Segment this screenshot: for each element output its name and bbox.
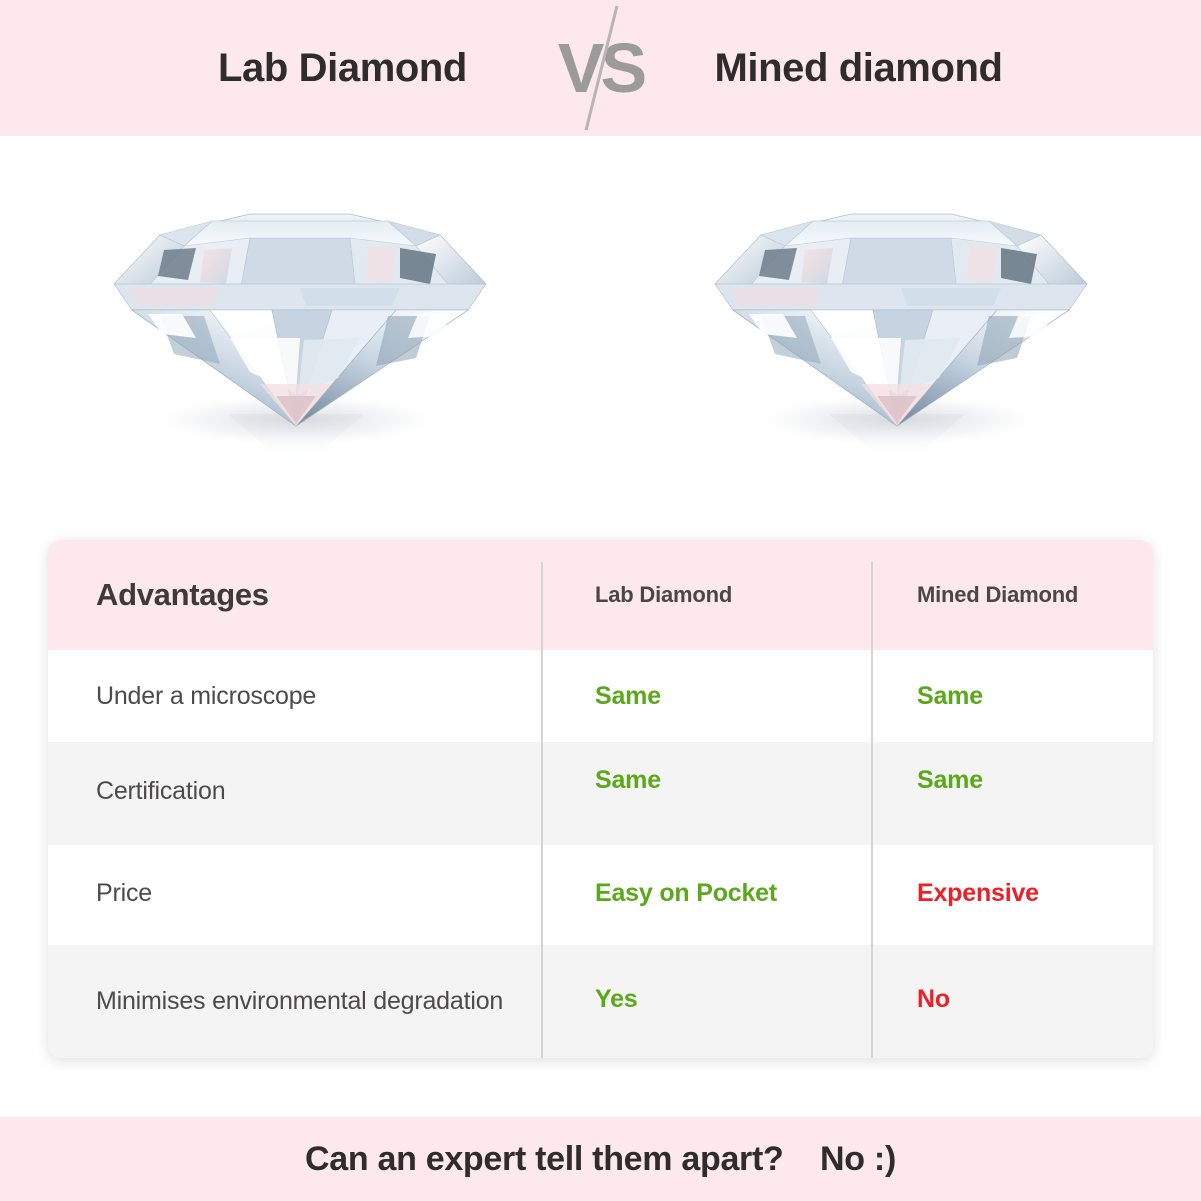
mined-value: Expensive [917,879,1039,907]
column-divider-1 [541,562,543,650]
infographic-page: Lab Diamond VS Mined diamond [0,0,1201,1201]
row-feature-cell: Minimises environmental degradation [48,983,541,1020]
comparison-table: Advantages Lab Diamond Mined Diamond Und… [48,540,1153,1058]
lab-value: Same [595,766,661,794]
table-row: Minimises environmental degradation Yes … [48,945,1153,1058]
feature-label: Under a microscope [96,682,316,710]
row-mined-cell: Same [871,682,1153,711]
footer-band: Can an expert tell them apart? No :) [0,1117,1201,1201]
row-feature-cell: Certification [48,775,541,812]
mined-value: Same [917,766,983,794]
row-mined-cell: Expensive [871,881,1153,910]
column-header-lab-diamond: Lab Diamond [595,582,732,607]
lab-value: Yes [595,985,638,1013]
column-header-mined-diamond: Mined Diamond [917,582,1078,607]
lab-value: Same [595,682,661,710]
row-lab-cell: Yes [541,987,871,1016]
lab-value: Easy on Pocket [595,879,777,907]
column-divider-2 [871,945,873,1058]
column-divider-2 [871,562,873,650]
header-inner: Lab Diamond VS Mined diamond [0,16,1201,120]
table-header-row: Advantages Lab Diamond Mined Diamond [48,540,1153,650]
column-divider-1 [541,650,543,742]
header-cell-lab: Lab Diamond [541,582,871,608]
table-row: Certification Same Same [48,742,1153,845]
feature-label: Price [96,879,152,907]
column-divider-1 [541,742,543,845]
mined-value: Same [917,682,983,710]
mined-diamond-cell [600,136,1201,530]
row-lab-cell: Same [541,682,871,711]
row-lab-cell: Same [541,779,871,808]
header-cell-mined: Mined Diamond [871,582,1153,608]
column-divider-2 [871,742,873,845]
row-mined-cell: No [871,987,1153,1016]
column-divider-1 [541,845,543,945]
versus-badge: VS [553,16,649,120]
table-row: Price Easy on Pocket Expensive [48,845,1153,945]
header-band: Lab Diamond VS Mined diamond [0,0,1201,136]
footer-question: Can an expert tell them apart? No :) [305,1140,896,1179]
header-cell-advantages: Advantages [48,577,541,613]
column-divider-1 [541,945,543,1058]
lab-diamond-icon [100,188,500,478]
row-feature-cell: Price [48,877,541,914]
column-divider-2 [871,650,873,742]
mined-value: No [917,985,950,1013]
row-lab-cell: Easy on Pocket [541,881,871,910]
feature-label: Minimises environmental degradation [96,987,503,1015]
header-title-mined-diamond: Mined diamond [649,46,1069,91]
lab-diamond-cell [0,136,600,530]
header-title-lab-diamond: Lab Diamond [133,46,553,91]
column-divider-2 [871,845,873,945]
row-mined-cell: Same [871,779,1153,808]
mined-diamond-icon [701,188,1101,478]
column-header-advantages: Advantages [96,577,269,612]
table-row: Under a microscope Same Same [48,650,1153,742]
feature-label: Certification [96,777,225,805]
row-feature-cell: Under a microscope [48,678,541,715]
diamond-showcase [0,136,1201,530]
